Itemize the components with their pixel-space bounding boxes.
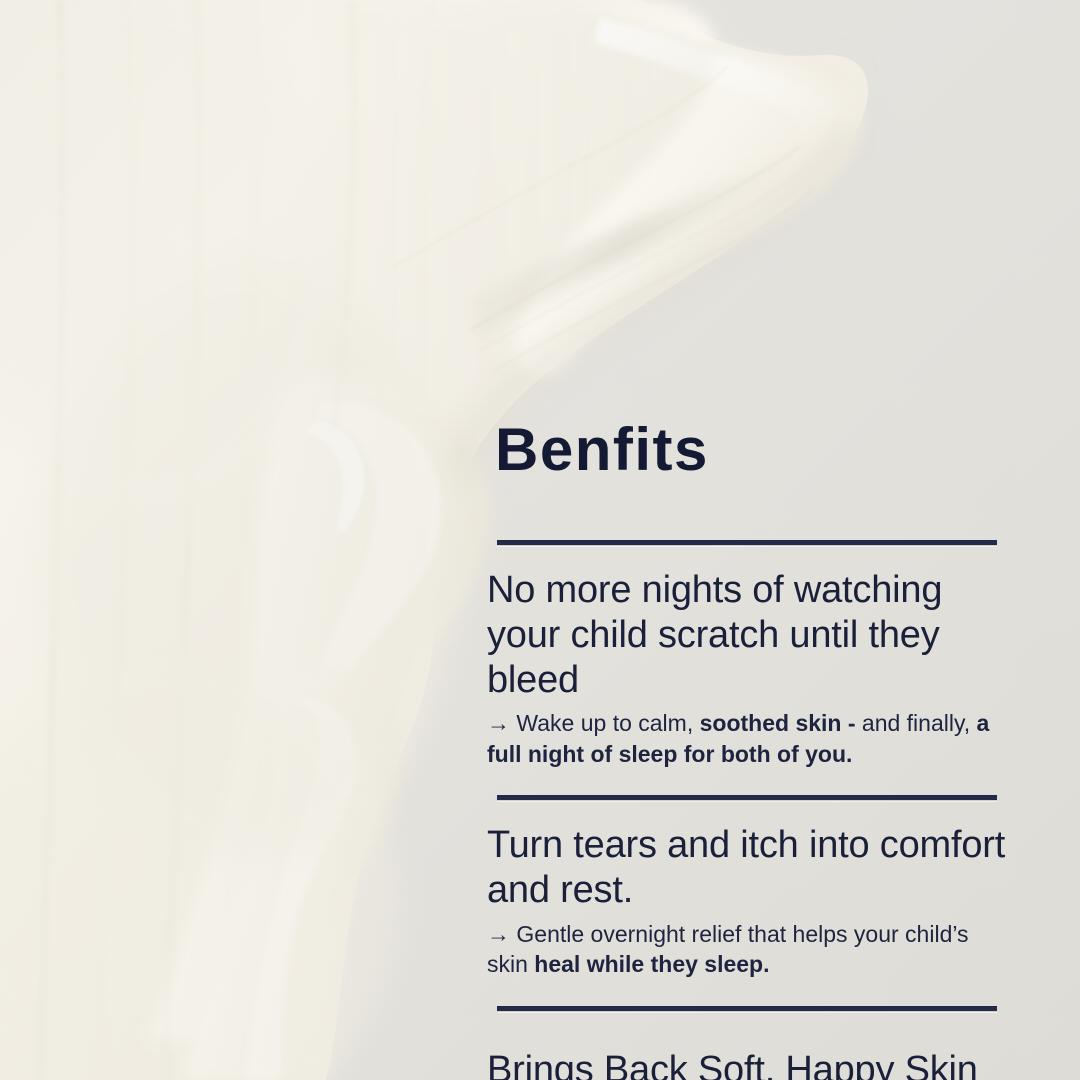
poster-canvas: Benfits No more nights of watching your …	[0, 0, 1080, 1080]
subtext-plain: Wake up to calm,	[510, 710, 700, 736]
footer-tagline: Brings Back Soft, Happy Skin	[487, 1048, 1007, 1080]
arrow-icon: →	[487, 921, 510, 947]
page-title: Benfits	[495, 420, 1007, 480]
benefit-block-2: Turn tears and itch into comfort and res…	[487, 823, 1007, 979]
divider-2	[497, 795, 997, 801]
divider-1	[497, 540, 997, 546]
subtext-emphasis: soothed skin -	[700, 710, 856, 736]
benefit-heading-1: No more nights of watching your child sc…	[487, 568, 1007, 702]
divider-3	[497, 1006, 997, 1012]
subtext-emphasis: heal while they sleep.	[534, 951, 769, 977]
benefit-heading-2: Turn tears and itch into comfort and res…	[487, 823, 1007, 913]
benefit-subtext-1-rich: Wake up to calm, soothed skin - and fina…	[487, 710, 989, 766]
benefits-content: Benfits No more nights of watching your …	[487, 420, 1007, 1080]
benefit-subtext-2: → Gentle overnight relief that helps you…	[487, 919, 1007, 980]
benefit-subtext-2-rich: Gentle overnight relief that helps your …	[487, 921, 969, 977]
subtext-plain: and finally,	[856, 710, 977, 736]
arrow-icon: →	[487, 710, 510, 736]
benefit-subtext-1: → Wake up to calm, soothed skin - and fi…	[487, 708, 1007, 769]
benefit-block-1: No more nights of watching your child sc…	[487, 568, 1007, 769]
